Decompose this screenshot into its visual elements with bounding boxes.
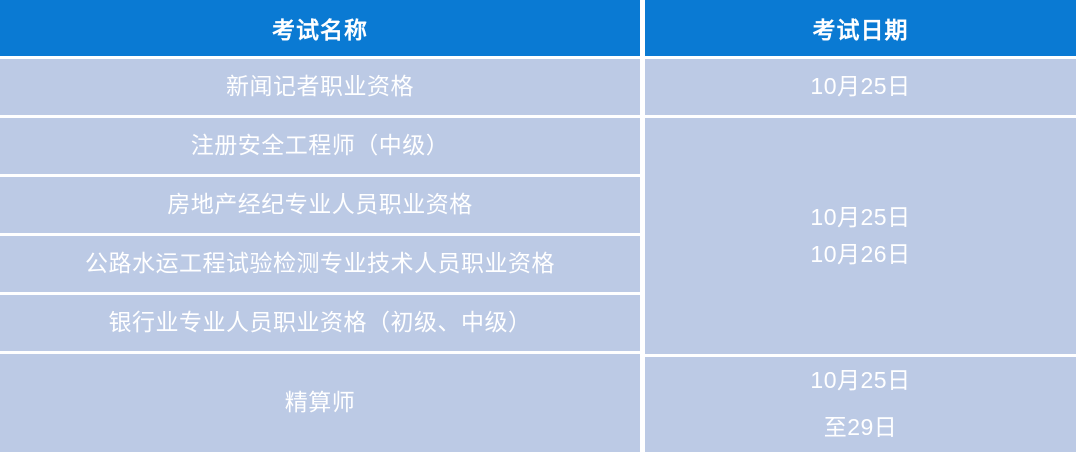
table-body: 新闻记者职业资格 注册安全工程师（中级） 房地产经纪专业人员职业资格 公路水运工…: [0, 56, 1080, 452]
table-row: 房地产经纪专业人员职业资格: [0, 177, 640, 233]
table-header-row: 考试名称 考试日期: [0, 0, 1080, 56]
table-row: 新闻记者职业资格: [0, 59, 640, 115]
exam-name-column: 新闻记者职业资格 注册安全工程师（中级） 房地产经纪专业人员职业资格 公路水运工…: [0, 59, 640, 452]
date-cell-single: 10月25日: [645, 59, 1076, 115]
table-row: 公路水运工程试验检测专业技术人员职业资格: [0, 236, 640, 292]
exam-date-column: 10月25日 10月25日 10月26日 10月25日 至29日: [645, 59, 1076, 452]
table-row: 精算师: [0, 354, 640, 452]
date-cell-range: 10月25日 至29日: [645, 357, 1076, 452]
column-header-exam-name: 考试名称: [0, 0, 640, 56]
table-row: 注册安全工程师（中级）: [0, 118, 640, 174]
date-line-secondary: 10月26日: [810, 238, 910, 271]
date-cell-merged: 10月25日 10月26日: [645, 118, 1076, 354]
date-line-start: 10月25日: [810, 364, 910, 397]
exam-schedule-table: 考试名称 考试日期 新闻记者职业资格 注册安全工程师（中级） 房地产经纪专业人员…: [0, 0, 1080, 449]
column-header-exam-date: 考试日期: [645, 0, 1076, 56]
date-line-end: 至29日: [824, 411, 898, 444]
table-row: 银行业专业人员职业资格（初级、中级）: [0, 295, 640, 351]
date-line-primary: 10月25日: [810, 201, 910, 234]
